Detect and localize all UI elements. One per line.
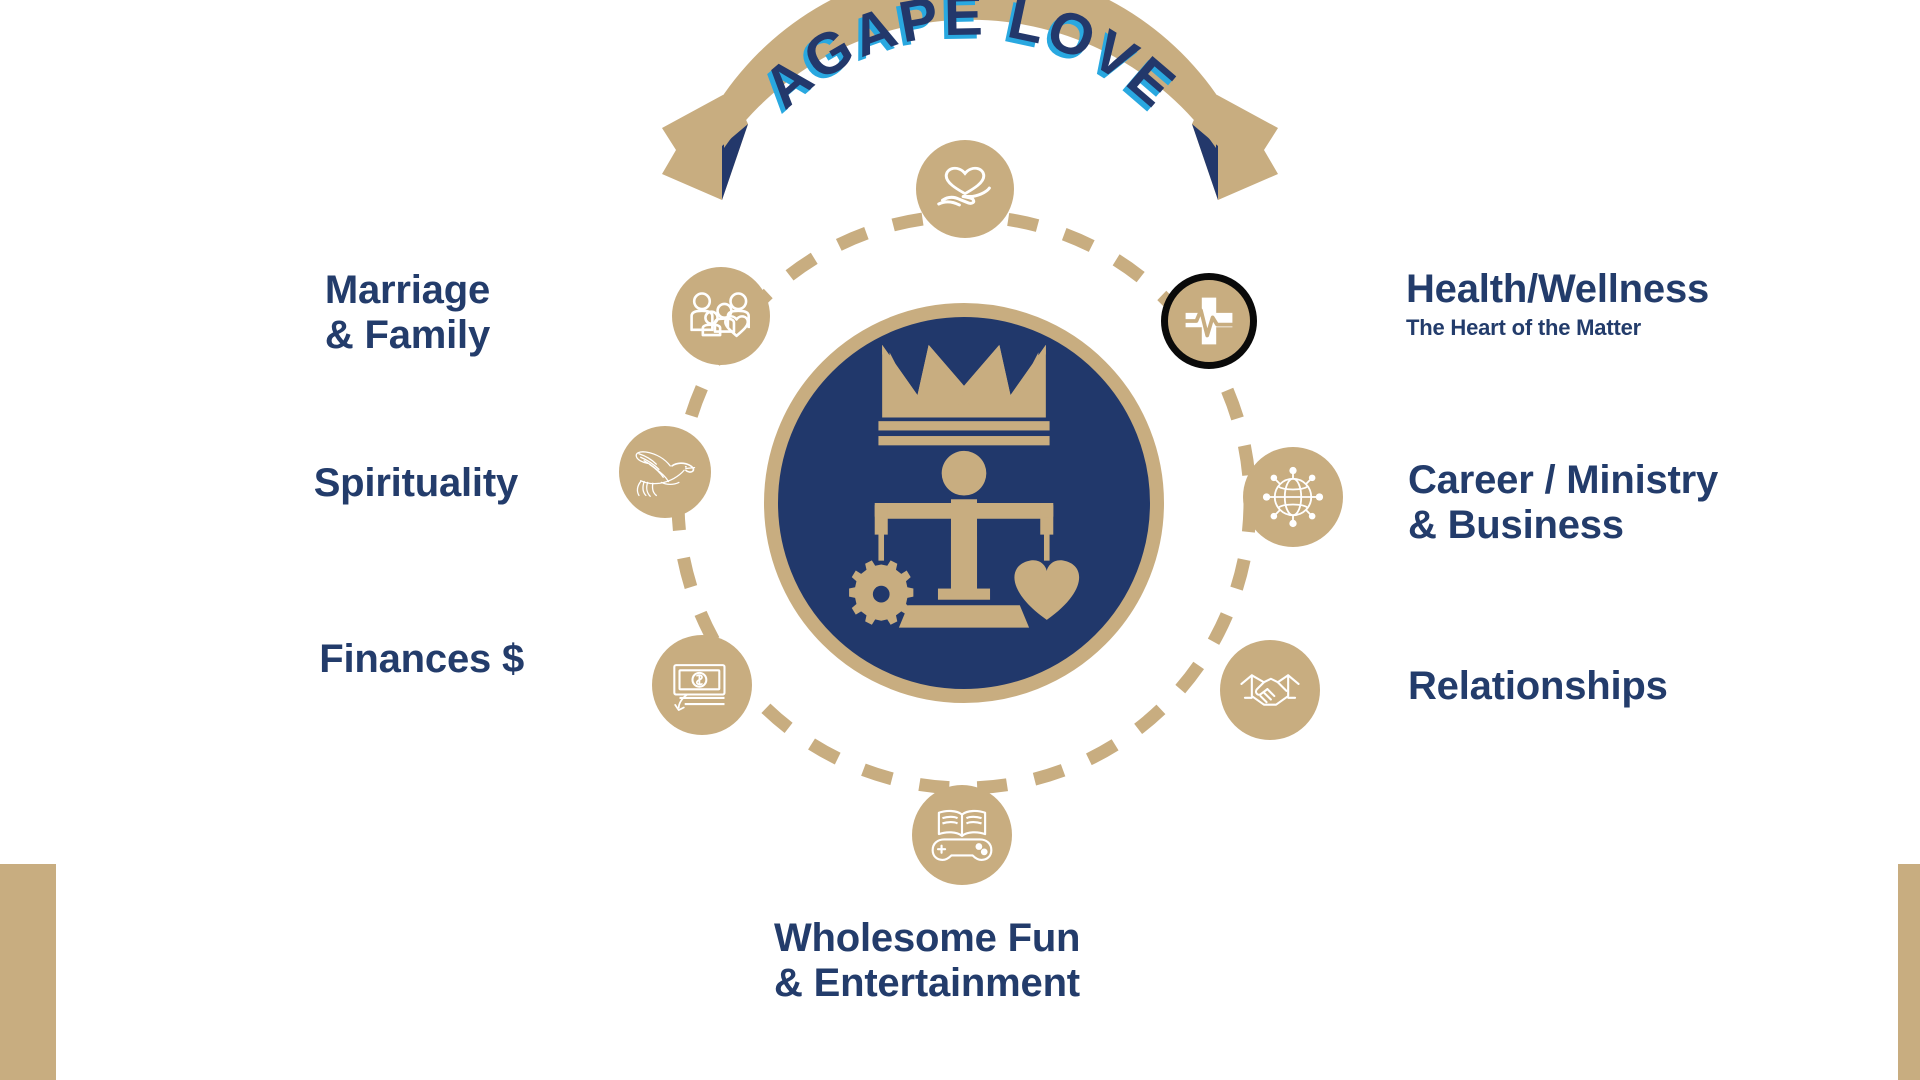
dove-icon [632, 443, 698, 501]
node-relationships[interactable] [1220, 640, 1320, 740]
label-wholesome-fun-line1: Wholesome Fun [774, 916, 1294, 961]
right-edge-accent-bar [1898, 864, 1920, 1080]
globe-network-icon [1262, 466, 1324, 528]
label-career-ministry-business: Career / Ministry & Business [1408, 458, 1918, 548]
label-wholesome-fun-line2: & Entertainment [774, 961, 1294, 1006]
node-spirituality[interactable] [619, 426, 711, 518]
label-spirituality-line1: Spirituality [0, 461, 518, 506]
label-marriage-family-line1: Marriage [0, 268, 490, 313]
label-marriage-family-line2: & Family [0, 313, 490, 358]
hand-holding-heart-icon [935, 159, 995, 219]
medical-cross-heartbeat-icon [1182, 294, 1236, 348]
label-marriage-family: Marriage & Family [0, 268, 490, 358]
label-finances: Finances $ [0, 637, 524, 682]
node-agape-love[interactable] [916, 140, 1014, 238]
label-career-ministry-line2: & Business [1408, 503, 1918, 548]
label-health-wellness-subtitle: The Heart of the Matter [1406, 316, 1906, 341]
infographic-canvas: AGAPE LOVE AGAPE LOVE [0, 0, 1920, 1080]
left-edge-accent-bar [0, 864, 56, 1080]
label-wholesome-fun-entertainment: Wholesome Fun & Entertainment [774, 916, 1294, 1006]
node-finances[interactable] [652, 635, 752, 735]
label-health-wellness-line1: Health/Wellness [1406, 267, 1906, 312]
center-medallion [764, 303, 1164, 703]
node-marriage-family[interactable] [672, 267, 770, 365]
money-cash-icon [670, 658, 734, 712]
handshake-icon [1238, 663, 1302, 717]
label-spirituality: Spirituality [0, 461, 518, 506]
label-relationships-line1: Relationships [1408, 664, 1908, 709]
label-health-wellness: Health/Wellness The Heart of the Matter [1406, 267, 1906, 340]
node-health-wellness[interactable] [1161, 273, 1257, 369]
family-group-heart-icon [689, 291, 753, 341]
crown-and-scales-figure-icon [778, 317, 1150, 689]
label-career-ministry-line1: Career / Ministry [1408, 458, 1918, 503]
label-relationships: Relationships [1408, 664, 1908, 709]
game-controller-book-icon [930, 805, 994, 865]
node-wholesome-fun-entertainment[interactable] [912, 785, 1012, 885]
label-finances-line1: Finances $ [0, 637, 524, 682]
node-career-ministry-business[interactable] [1243, 447, 1343, 547]
